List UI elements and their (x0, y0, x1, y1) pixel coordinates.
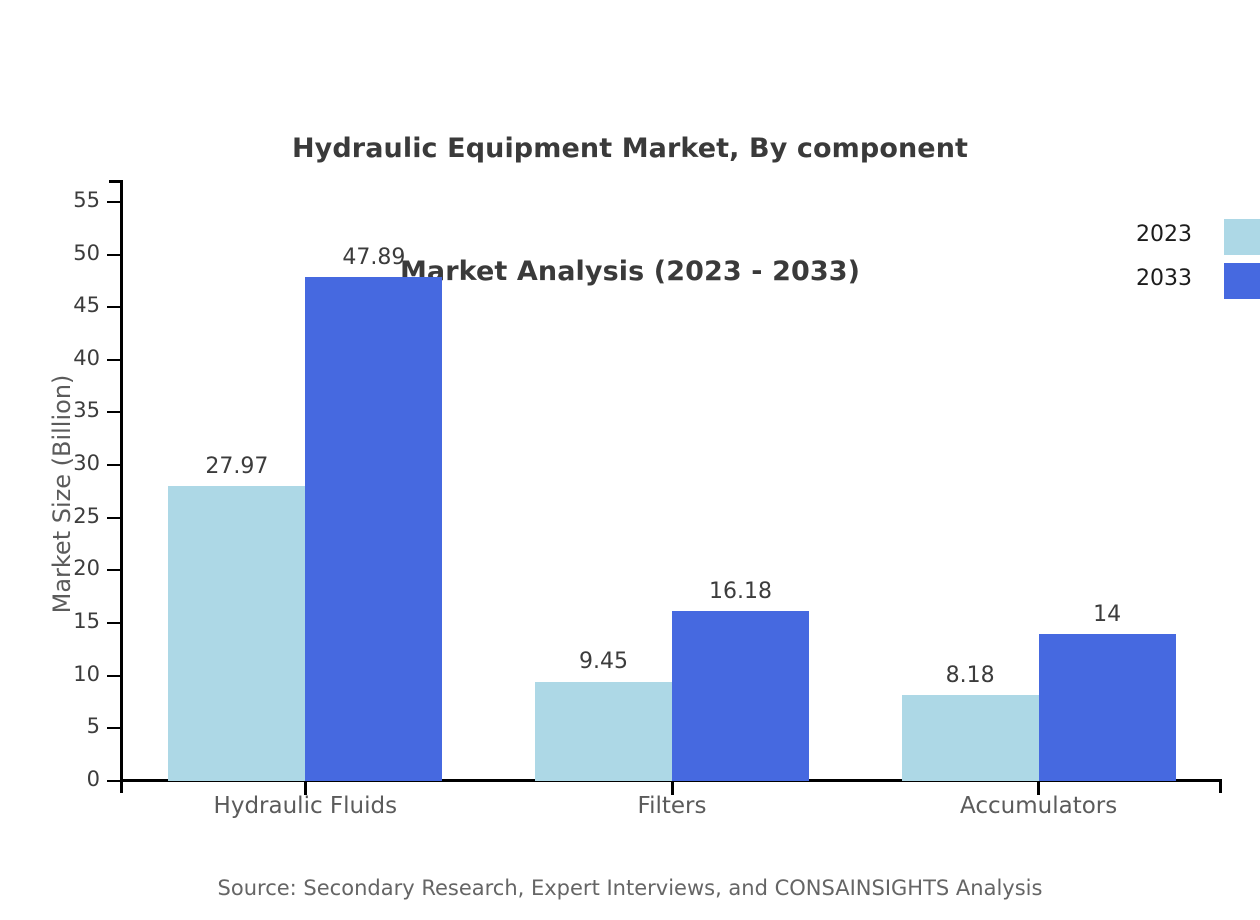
bar-2023-filters[interactable] (535, 682, 672, 782)
x-axis-category-label[interactable]: Accumulators (839, 793, 1239, 819)
bar-value-label: 9.45 (535, 649, 672, 674)
bar-2033-filters[interactable] (672, 611, 809, 781)
y-axis-tick (107, 201, 120, 203)
y-axis-tick-label: 20 (50, 556, 100, 580)
y-axis-tick (107, 727, 120, 729)
bar-2023-hydraulic-fluids[interactable] (168, 486, 305, 781)
y-axis-tick-label: 35 (50, 398, 100, 422)
y-axis-tick-label: 10 (50, 662, 100, 686)
y-axis-tick-label: 5 (50, 714, 100, 738)
y-axis-tick-label: 55 (50, 188, 100, 212)
x-axis-end-cap (1219, 779, 1222, 793)
bar-value-label: 16.18 (672, 579, 809, 604)
bar-2033-hydraulic-fluids[interactable] (305, 277, 442, 781)
chart-figure: Hydraulic Equipment Market, By component… (0, 0, 1260, 920)
legend-color-swatch (1224, 263, 1260, 299)
bar-value-label: 27.97 (168, 454, 305, 479)
page-title: Hydraulic Equipment Market, By component… (0, 46, 1260, 374)
bar-value-label: 14 (1039, 602, 1176, 627)
x-axis-category-label[interactable]: Hydraulic Fluids (105, 793, 505, 819)
y-axis-tick (107, 517, 120, 519)
y-axis-tick (107, 622, 120, 624)
legend-color-swatch (1224, 219, 1260, 255)
bar-2023-accumulators[interactable] (902, 695, 1039, 781)
y-axis-tick-label: 40 (50, 346, 100, 370)
y-axis-tick-label: 25 (50, 504, 100, 528)
legend-item-2033[interactable]: 2033 (0, 263, 1260, 299)
y-axis-tick (107, 569, 120, 571)
legend-label: 2023 (1136, 222, 1192, 247)
y-axis-tick (107, 306, 120, 308)
y-axis-tick (107, 464, 120, 466)
x-axis-category-label[interactable]: Filters (472, 793, 872, 819)
chart-title-line-1: Hydraulic Equipment Market, By component (0, 128, 1260, 169)
y-axis-tick (107, 411, 120, 413)
y-axis-tick (107, 359, 120, 361)
source-note: Source: Secondary Research, Expert Inter… (0, 876, 1260, 900)
y-axis-tick-label: 0 (50, 767, 100, 791)
y-axis-tick (107, 675, 120, 677)
y-axis-tick (107, 780, 120, 782)
y-axis-tick-label: 15 (50, 609, 100, 633)
legend-item-2023[interactable]: 2023 (0, 219, 1260, 255)
bar-2033-accumulators[interactable] (1039, 634, 1176, 781)
bar-value-label: 8.18 (902, 663, 1039, 688)
y-axis-tick-label: 30 (50, 451, 100, 475)
legend-label: 2033 (1136, 266, 1192, 291)
